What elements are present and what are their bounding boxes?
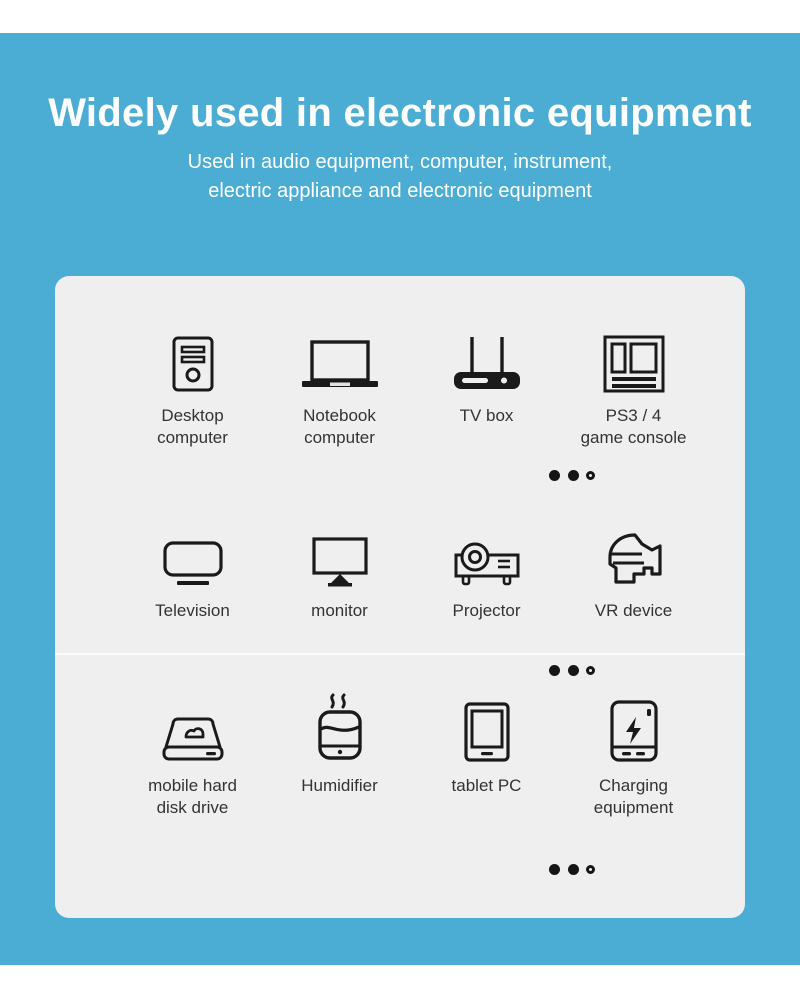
application-item-label: monitor (311, 600, 368, 622)
application-item-vr-device[interactable]: VR device (571, 516, 696, 622)
ellipsis-dot (568, 864, 579, 875)
ellipsis-dot (549, 470, 560, 481)
application-item-notebook-computer[interactable]: Notebook computer (277, 321, 402, 450)
application-item-label: VR device (595, 600, 672, 622)
application-item-label: PS3 / 4 game console (581, 405, 687, 450)
ellipsis-dot (586, 666, 595, 675)
subtitle-line-1: Used in audio equipment, computer, instr… (0, 148, 800, 177)
ellipsis-dot (586, 865, 595, 874)
more-items-ellipsis-1[interactable] (549, 469, 595, 481)
icon-row-3: mobile hard disk drive Humidifier (55, 691, 745, 820)
application-item-game-console[interactable]: PS3 / 4 game console (571, 321, 696, 450)
icon-row-2: Television monitor (55, 516, 745, 622)
application-item-mobile-hard-disk-drive[interactable]: mobile hard disk drive (130, 691, 255, 820)
application-item-desktop-computer[interactable]: Desktop computer (130, 321, 255, 450)
application-item-label: Humidifier (301, 775, 378, 797)
application-item-label: Charging equipment (594, 775, 673, 820)
ellipsis-dot (549, 864, 560, 875)
application-item-label: Notebook computer (303, 405, 376, 450)
hero-banner: Widely used in electronic equipment Used… (0, 33, 800, 965)
tablet-icon (463, 691, 511, 763)
monitor-icon (311, 516, 369, 588)
tv-box-router-icon (451, 321, 523, 393)
projector-icon (452, 516, 522, 588)
application-item-label: mobile hard disk drive (148, 775, 237, 820)
applications-card: Desktop computer Notebook computer (55, 276, 745, 918)
vr-headset-icon (602, 516, 666, 588)
application-item-humidifier[interactable]: Humidifier (277, 691, 402, 820)
ellipsis-dot (568, 665, 579, 676)
ellipsis-dot (549, 665, 560, 676)
application-item-charging-equipment[interactable]: Charging equipment (571, 691, 696, 820)
application-item-label: tablet PC (452, 775, 522, 797)
application-item-label: Desktop computer (157, 405, 228, 450)
application-item-tv-box[interactable]: TV box (424, 321, 549, 450)
more-items-ellipsis-2[interactable] (549, 664, 595, 676)
subtitle-line-2: electric appliance and electronic equipm… (0, 177, 800, 206)
application-item-projector[interactable]: Projector (424, 516, 549, 622)
card-divider (55, 653, 745, 655)
page-subtitle: Used in audio equipment, computer, instr… (0, 148, 800, 206)
ellipsis-dot (568, 470, 579, 481)
game-console-icon (603, 321, 665, 393)
application-item-label: Television (155, 600, 230, 622)
application-item-tablet-pc[interactable]: tablet PC (424, 691, 549, 820)
humidifier-icon (312, 691, 368, 763)
page-root: Widely used in electronic equipment Used… (0, 0, 800, 1000)
application-item-monitor[interactable]: monitor (277, 516, 402, 622)
power-bank-icon (609, 691, 659, 763)
television-icon (162, 516, 224, 588)
desktop-tower-icon (171, 321, 215, 393)
laptop-icon (301, 321, 379, 393)
application-item-label: Projector (452, 600, 520, 622)
application-item-label: TV box (460, 405, 514, 427)
ellipsis-dot (586, 471, 595, 480)
application-item-television[interactable]: Television (130, 516, 255, 622)
hard-disk-drive-icon (160, 691, 226, 763)
icon-row-1: Desktop computer Notebook computer (55, 321, 745, 450)
more-items-ellipsis-3[interactable] (549, 863, 595, 875)
page-title: Widely used in electronic equipment (0, 89, 800, 137)
